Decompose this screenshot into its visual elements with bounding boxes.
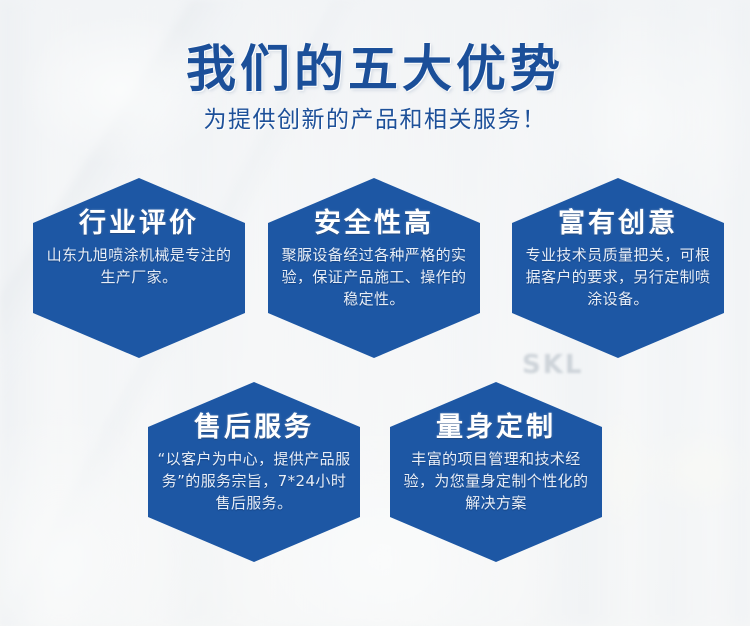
advantage-card-industry-reputation: 行业评价 山东九旭喷涂机械是专注的生产厂家。	[33, 178, 245, 358]
advantage-card-after-sales-service: 售后服务 “以客户为中心，提供产品服务”的服务宗旨，7*24小时售后服务。	[148, 382, 360, 562]
promo-banner: SKL 我们的五大优势 为提供创新的产品和相关服务！ 行业评价 山东九旭喷涂机械…	[0, 0, 750, 626]
advantage-card-high-safety: 安全性高 聚脲设备经过各种严格的实验，保证产品施工、操作的稳定性。	[268, 178, 480, 358]
page-title: 我们的五大优势	[0, 0, 750, 95]
advantage-description: 丰富的项目管理和技术经验，为您量身定制个性化的解决方案	[398, 449, 594, 514]
advantage-description: 专业技术员质量把关，可根据客户的要求，另行定制喷涂设备。	[520, 245, 716, 310]
advantage-title: 售后服务	[194, 412, 314, 443]
advantage-card-rich-creativity: 富有创意 专业技术员质量把关，可根据客户的要求，另行定制喷涂设备。	[512, 178, 724, 358]
banner-header: 我们的五大优势 为提供创新的产品和相关服务！	[0, 0, 750, 133]
advantage-description: “以客户为中心，提供产品服务”的服务宗旨，7*24小时售后服务。	[156, 449, 352, 514]
advantage-description: 聚脲设备经过各种严格的实验，保证产品施工、操作的稳定性。	[276, 245, 472, 310]
page-subtitle: 为提供创新的产品和相关服务！	[0, 95, 750, 133]
advantage-title: 行业评价	[79, 208, 199, 239]
advantage-description: 山东九旭喷涂机械是专注的生产厂家。	[41, 245, 237, 289]
advantage-title: 安全性高	[314, 208, 434, 239]
advantage-title: 富有创意	[558, 208, 678, 239]
advantage-title: 量身定制	[436, 412, 556, 443]
advantage-card-tailored-customization: 量身定制 丰富的项目管理和技术经验，为您量身定制个性化的解决方案	[390, 382, 602, 562]
